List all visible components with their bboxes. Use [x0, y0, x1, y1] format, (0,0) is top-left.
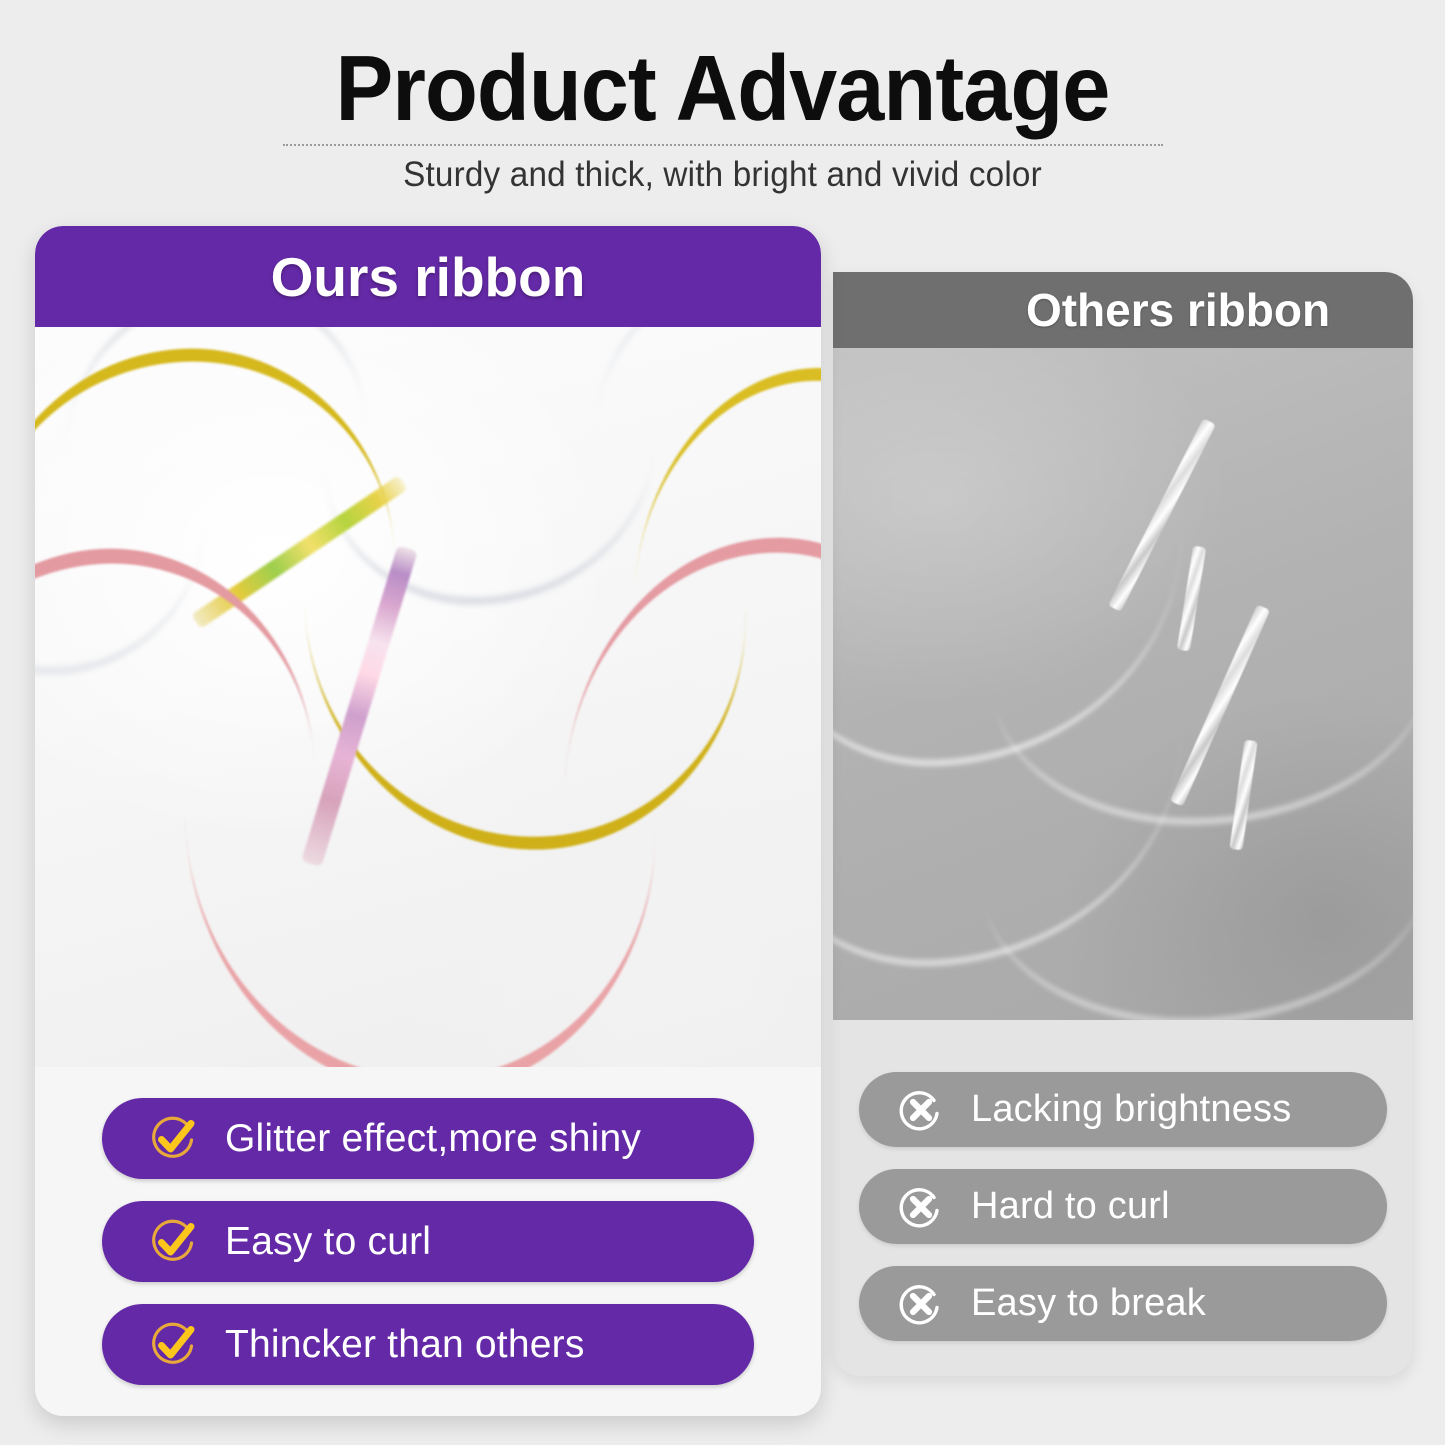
list-item-label: Easy to break — [971, 1282, 1206, 1325]
list-item-label: Glitter effect,more shiny — [225, 1117, 641, 1161]
list-item[interactable]: Lacking brightness — [859, 1072, 1387, 1147]
list-item-label: Hard to curl — [971, 1185, 1170, 1228]
list-item-label: Lacking brightness — [971, 1088, 1291, 1131]
comparison-area: Others ribbon Lacking brightness — [0, 0, 1445, 1445]
list-item-label: Easy to curl — [225, 1220, 431, 1264]
others-header-label: Others ribbon — [916, 283, 1330, 337]
cross-circle-icon — [897, 1086, 945, 1134]
others-ribbon-card: Others ribbon Lacking brightness — [833, 272, 1413, 1376]
others-ribbon-photo — [833, 348, 1413, 1020]
ours-card-header: Ours ribbon — [35, 226, 821, 327]
list-item[interactable]: Thincker than others — [102, 1304, 754, 1385]
others-card-header: Others ribbon — [833, 272, 1413, 348]
ours-ribbon-photo — [35, 327, 821, 1067]
list-item[interactable]: Easy to break — [859, 1266, 1387, 1341]
ours-ribbon-card: Ours ribbon Glitter effect,more — [35, 226, 821, 1416]
list-item[interactable]: Glitter effect,more shiny — [102, 1098, 754, 1179]
ours-feature-list: Glitter effect,more shiny Easy to curl T… — [35, 1067, 821, 1407]
ours-header-label: Ours ribbon — [271, 245, 586, 309]
cross-circle-icon — [897, 1280, 945, 1328]
list-item-label: Thincker than others — [225, 1323, 585, 1367]
cross-circle-icon — [897, 1183, 945, 1231]
check-circle-icon — [147, 1113, 199, 1165]
check-circle-icon — [147, 1216, 199, 1268]
others-feature-list: Lacking brightness Hard to curl Easy to … — [833, 1040, 1413, 1363]
list-item[interactable]: Hard to curl — [859, 1169, 1387, 1244]
check-circle-icon — [147, 1319, 199, 1371]
list-item[interactable]: Easy to curl — [102, 1201, 754, 1282]
